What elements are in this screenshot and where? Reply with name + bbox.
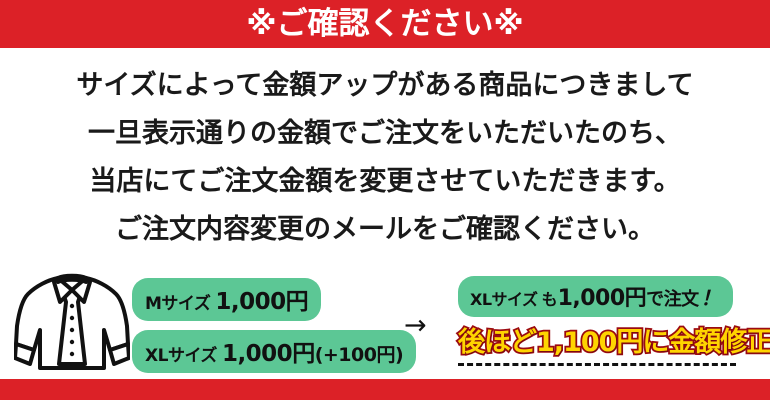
footer-bar (0, 379, 770, 400)
dress-shirt-icon (14, 268, 130, 376)
notice-line-1: サイズによって金額アップがある商品につきまして (76, 62, 693, 110)
right-arrow-icon: → (404, 312, 427, 339)
order-amount: 1,000円 (558, 280, 647, 312)
price-amount-xl: 1,000円 (222, 334, 315, 368)
order-size-label: XLサイズ (470, 286, 538, 310)
dashed-underline (458, 363, 736, 366)
price-comparison: Mサイズ 1,000円 XLサイズ 1,000円 (+100円) → XLサイズ… (0, 264, 770, 378)
order-instruction-pill: XLサイズ も 1,000円 で注文 ！ (458, 276, 733, 317)
notice-banner: ※ご確認ください※ サイズによって金額アップがある商品につきまして 一旦表示通り… (0, 0, 770, 400)
order-exclamation: ！ (701, 282, 721, 311)
notice-line-2: 一旦表示通りの金額でご注文をいただいたのち、 (88, 110, 682, 158)
order-action-label: で注文 (646, 285, 699, 311)
page-title: ※ご確認ください※ (246, 9, 523, 40)
header-bar: ※ご確認ください※ (0, 0, 770, 48)
size-label-xl: XLサイズ (145, 341, 217, 366)
notice-line-4: ご注文内容変更のメールをご確認ください。 (115, 206, 655, 254)
after-price-group: XLサイズ も 1,000円 で注文 ！ 後ほど1,100円に金額修正 (458, 276, 758, 366)
order-particle: も (542, 286, 558, 310)
price-amount-m: 1,000円 (215, 282, 308, 316)
before-price-group: Mサイズ 1,000円 XLサイズ 1,000円 (+100円) (132, 278, 416, 373)
price-correction-note: 後ほど1,100円に金額修正 (458, 329, 758, 357)
notice-body: サイズによって金額アップがある商品につきまして 一旦表示通りの金額でご注文をいた… (0, 52, 770, 264)
size-label-m: Mサイズ (145, 289, 210, 314)
price-pill-xl: XLサイズ 1,000円 (+100円) (132, 330, 416, 373)
notice-line-3: 当店にてご注文金額を変更させていただきます。 (89, 158, 680, 206)
price-surcharge-xl: (+100円) (315, 340, 403, 367)
price-pill-m: Mサイズ 1,000円 (132, 278, 321, 321)
